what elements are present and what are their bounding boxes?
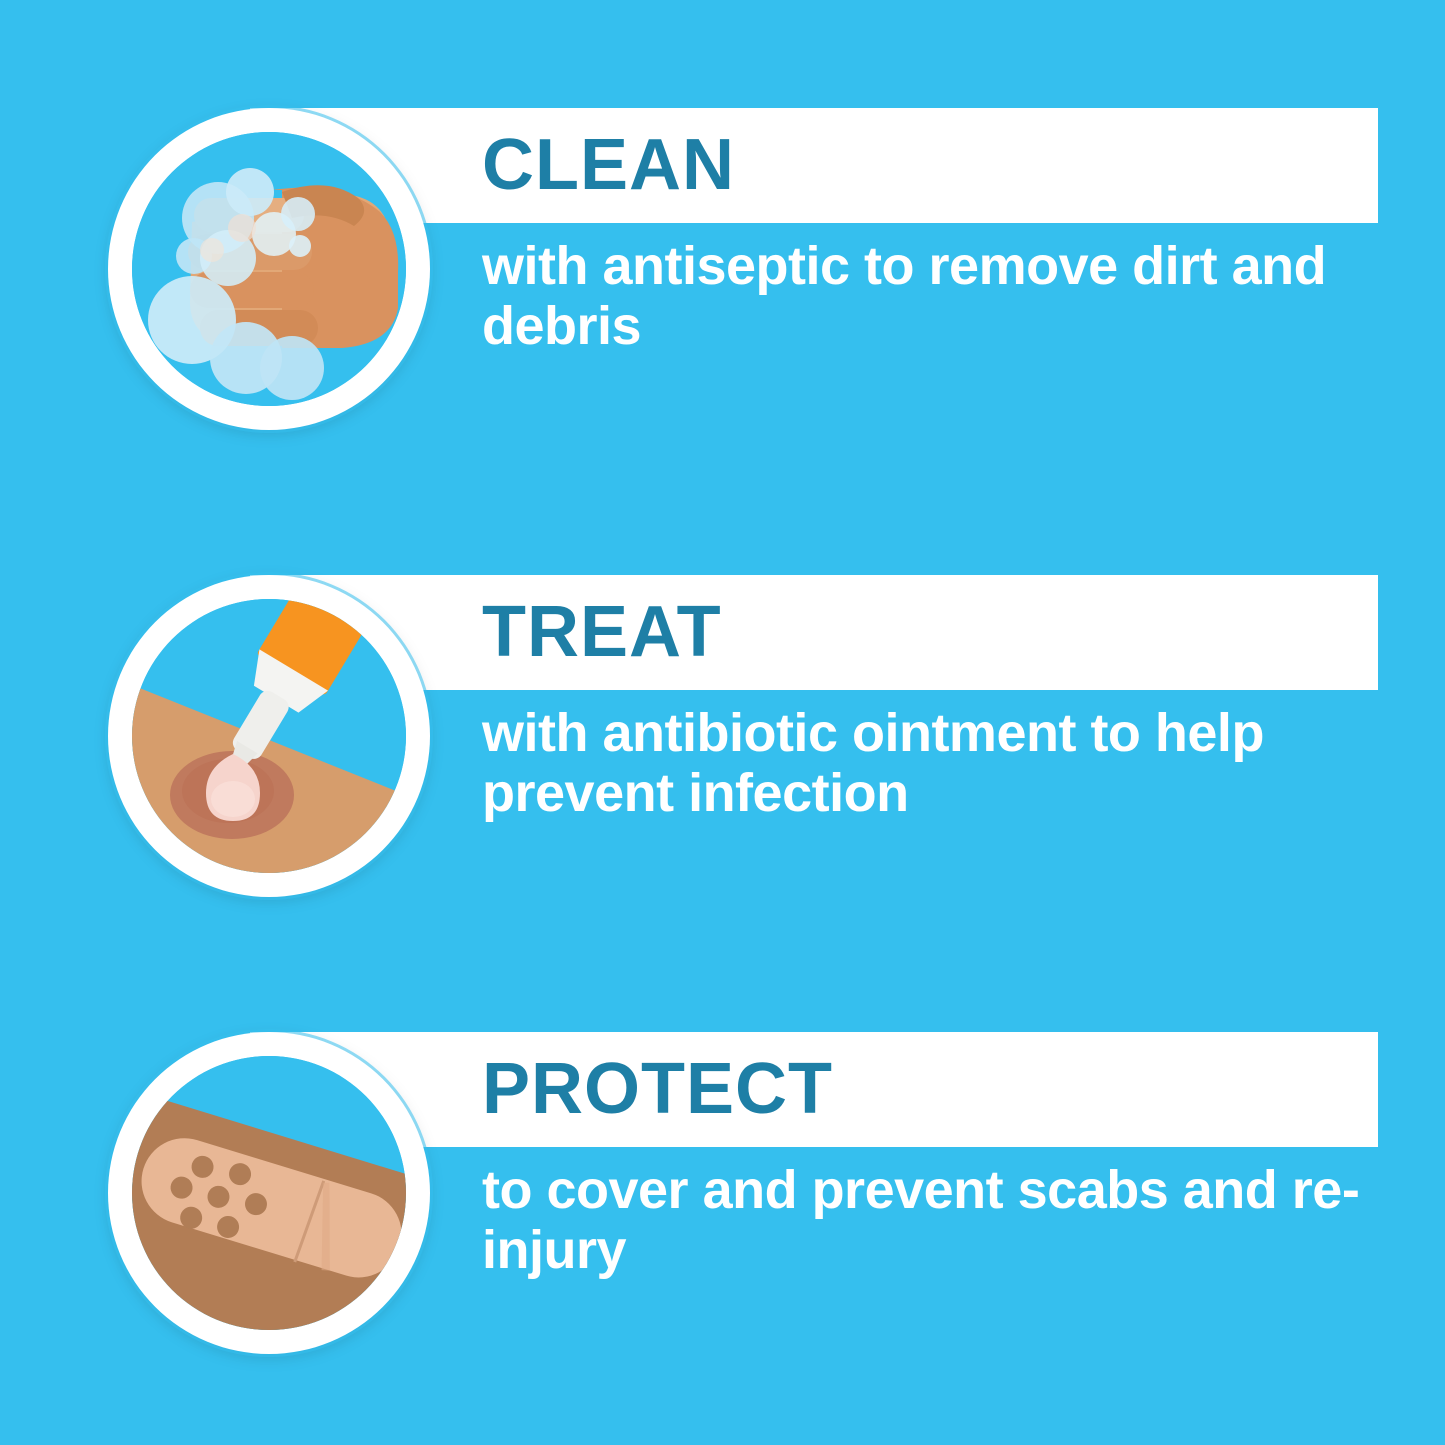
step-protect: PROTECT to cover and prevent scabs and r… bbox=[0, 1022, 1445, 1382]
ointment-tube-on-wound-icon bbox=[132, 599, 406, 873]
step-body-clean: with antiseptic to remove dirt and debri… bbox=[482, 236, 1382, 357]
step-body-protect: to cover and prevent scabs and re-injury bbox=[482, 1160, 1382, 1281]
washing-hands-with-soap-icon bbox=[132, 132, 406, 406]
adhesive-bandage-on-skin-icon bbox=[132, 1056, 406, 1330]
step-treat: TREAT with antibiotic ointment to help p… bbox=[0, 565, 1445, 925]
step-clean: CLEAN with antiseptic to remove dirt and… bbox=[0, 98, 1445, 458]
step-title-treat: TREAT bbox=[482, 575, 722, 690]
icon-clean bbox=[108, 108, 430, 430]
step-title-protect: PROTECT bbox=[482, 1032, 833, 1147]
icon-treat bbox=[108, 575, 430, 897]
step-title-clean: CLEAN bbox=[482, 108, 735, 223]
step-body-treat: with antibiotic ointment to help prevent… bbox=[482, 703, 1382, 824]
wound-care-infographic: CLEAN with antiseptic to remove dirt and… bbox=[0, 0, 1445, 1445]
icon-protect bbox=[108, 1032, 430, 1354]
